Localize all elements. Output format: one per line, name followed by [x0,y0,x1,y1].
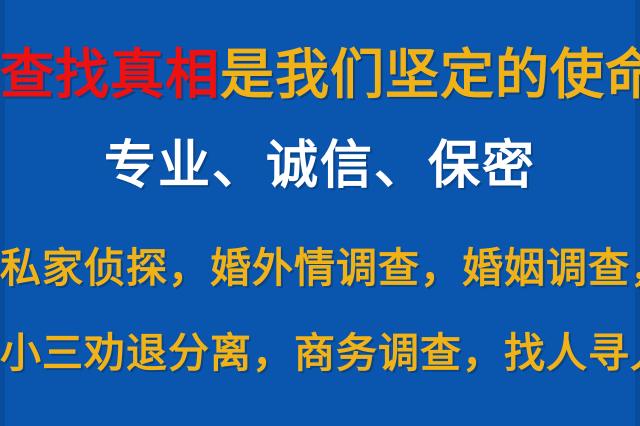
services-line-1: 私家侦探，婚外情调查，婚姻调查， [0,248,640,289]
headline-rest: 是我们坚定的使命 [220,43,640,106]
headline: 查找真相是我们坚定的使命 [0,48,640,102]
headline-highlight: 查找真相 [0,43,220,106]
services-line-2: 小三劝退分离，商务调查，找人寻人 [0,333,640,374]
advertisement-banner: 查找真相是我们坚定的使命 专业、诚信、保密 私家侦探，婚外情调查，婚姻调查， 小… [0,0,640,426]
slogan-text: 专业、诚信、保密 [0,140,640,192]
